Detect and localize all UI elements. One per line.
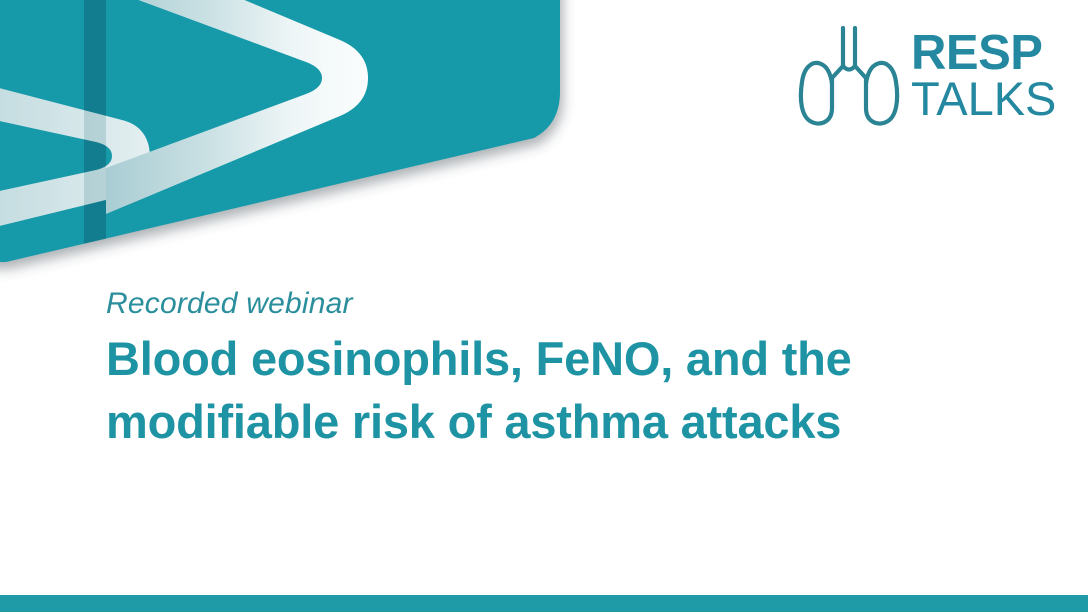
logo-wordmark: RESP TALKS <box>911 31 1056 120</box>
bottom-accent-bar <box>0 595 1088 612</box>
logo-text-talks: TALKS <box>911 77 1056 120</box>
page-title: Blood eosinophils, FeNO, and the modifia… <box>106 328 1036 453</box>
title-block: Recorded webinar Blood eosinophils, FeNO… <box>106 286 1046 453</box>
lungs-icon <box>793 22 905 130</box>
resp-talks-logo: RESP TALKS <box>793 18 1038 133</box>
chevron-right-mark <box>106 0 368 214</box>
banner-body <box>0 0 560 262</box>
chevron-left-mark <box>0 70 150 243</box>
teal-chevron-banner <box>0 0 600 300</box>
logo-text-resp: RESP <box>911 31 1056 76</box>
slide-canvas: RESP TALKS Recorded webinar Blood eosino… <box>0 0 1088 612</box>
banner-dark-band <box>84 0 106 280</box>
kicker-label: Recorded webinar <box>106 286 1046 322</box>
